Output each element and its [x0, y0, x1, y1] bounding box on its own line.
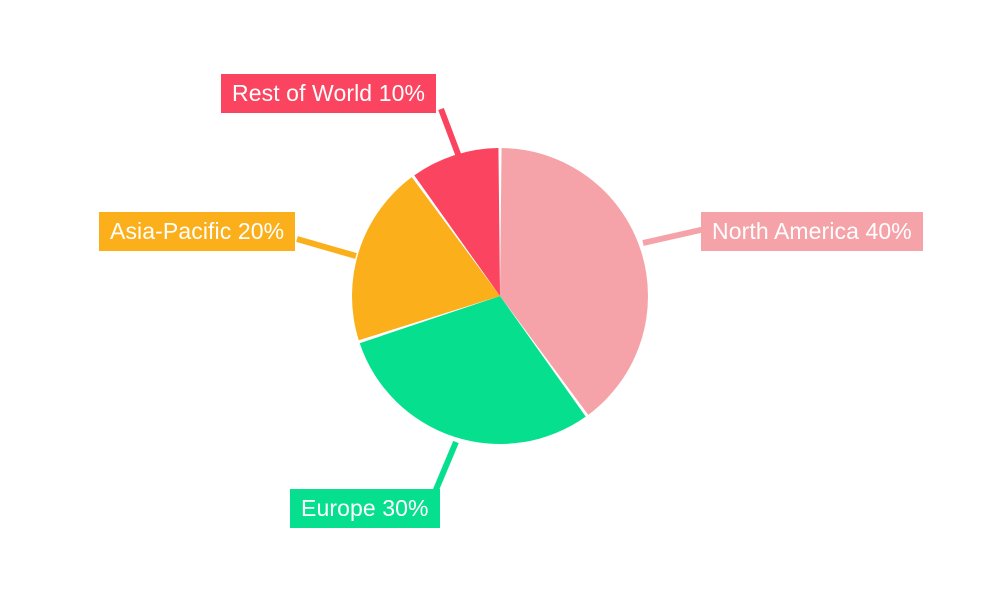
- pie-slices: [352, 148, 648, 444]
- pie-chart: North America 40% Europe 30% Asia-Pacifi…: [0, 0, 1000, 600]
- pie-label-europe-text: Europe 30%: [301, 497, 429, 520]
- pie-label-asia-pacific-text: Asia-Pacific 20%: [110, 220, 284, 243]
- pie-label-asia-pacific[interactable]: Asia-Pacific 20%: [99, 212, 295, 251]
- pie-label-rest-of-world-text: Rest of World 10%: [232, 82, 425, 105]
- pie-label-north-america-text: North America 40%: [712, 220, 912, 243]
- pie-label-europe[interactable]: Europe 30%: [290, 489, 440, 528]
- leader-line-north-america: [643, 229, 705, 243]
- leader-line-asia-pacific: [297, 239, 356, 256]
- leader-line-europe: [435, 442, 456, 492]
- pie-label-rest-of-world[interactable]: Rest of World 10%: [221, 74, 436, 113]
- pie-label-north-america[interactable]: North America 40%: [701, 212, 923, 251]
- pie-chart-canvas: [0, 0, 1000, 600]
